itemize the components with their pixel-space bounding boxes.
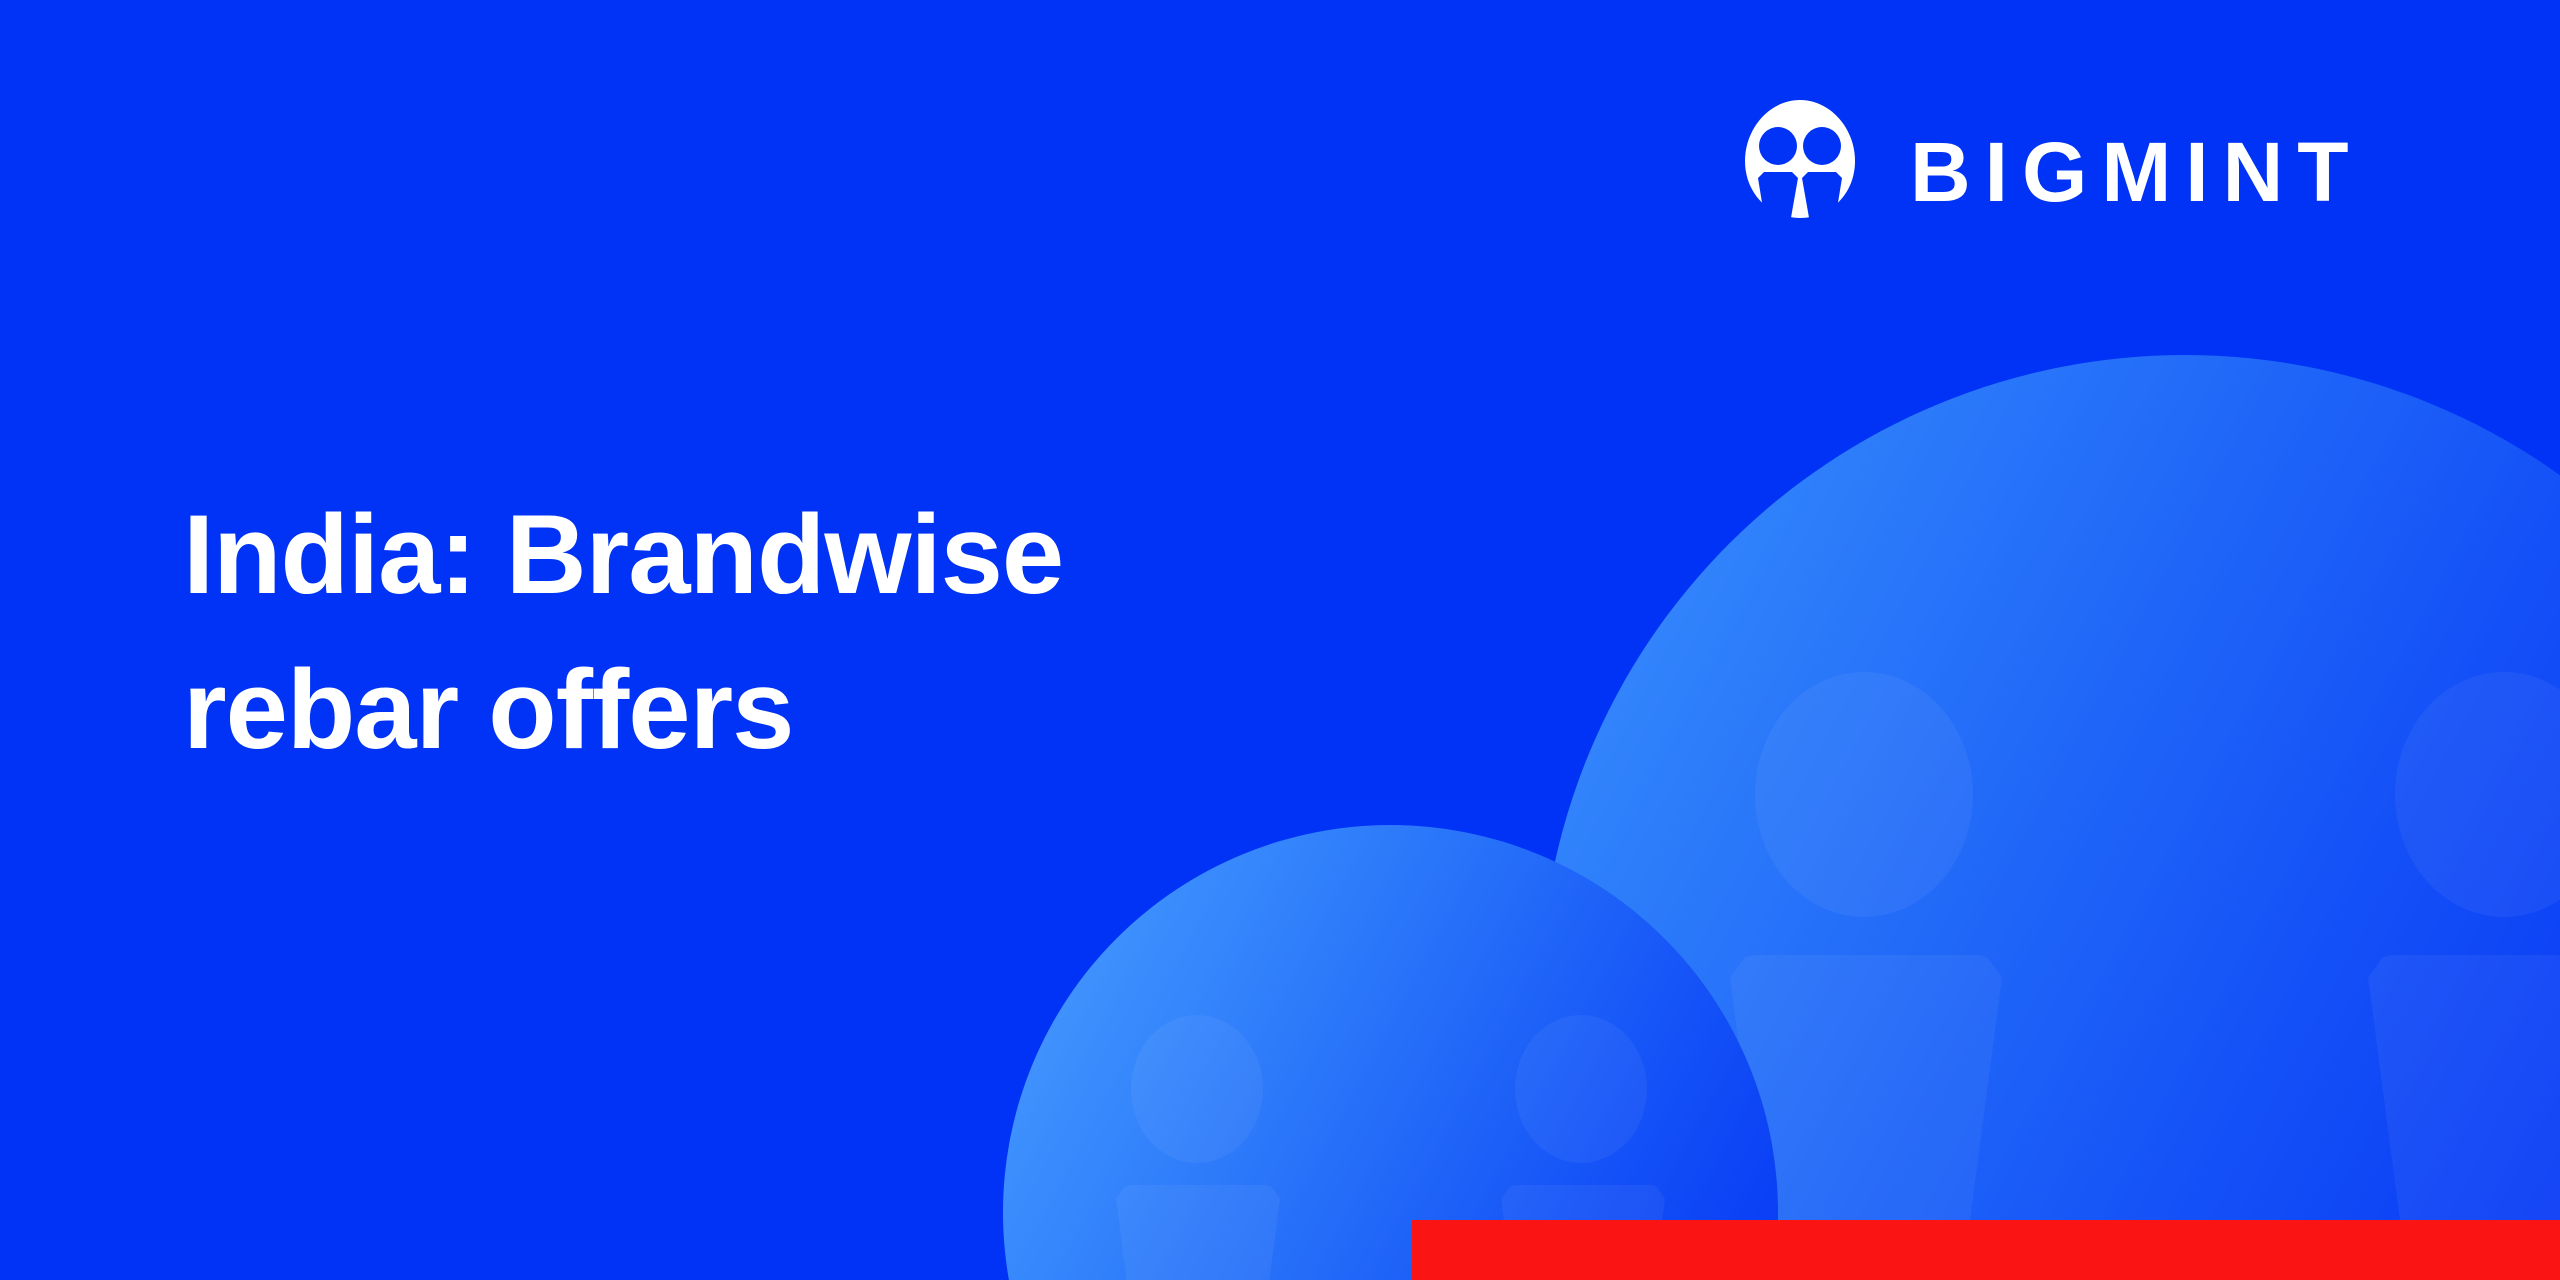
slide-canvas: BIGMINT India: Brandwise rebar offers	[0, 0, 2560, 1280]
watermark-head-left-icon	[1131, 1015, 1263, 1163]
watermark-head-left-icon	[1755, 672, 1973, 917]
bigmint-people-egg-icon	[1742, 98, 1858, 246]
watermark-body-left-icon	[1116, 1185, 1280, 1280]
page-title-line-2: rebar offers	[183, 633, 1283, 788]
brand-wordmark: BIGMINT	[1910, 130, 2363, 214]
page-title: India: Brandwise rebar offers	[183, 478, 1283, 787]
page-title-line-1: India: Brandwise	[183, 478, 1283, 633]
brand-lockup[interactable]: BIGMINT	[1742, 98, 2363, 246]
watermark-head-right-icon	[1515, 1015, 1647, 1163]
watermark-head-right-icon	[2395, 672, 2560, 917]
red-accent-bar	[1412, 1220, 2560, 1280]
